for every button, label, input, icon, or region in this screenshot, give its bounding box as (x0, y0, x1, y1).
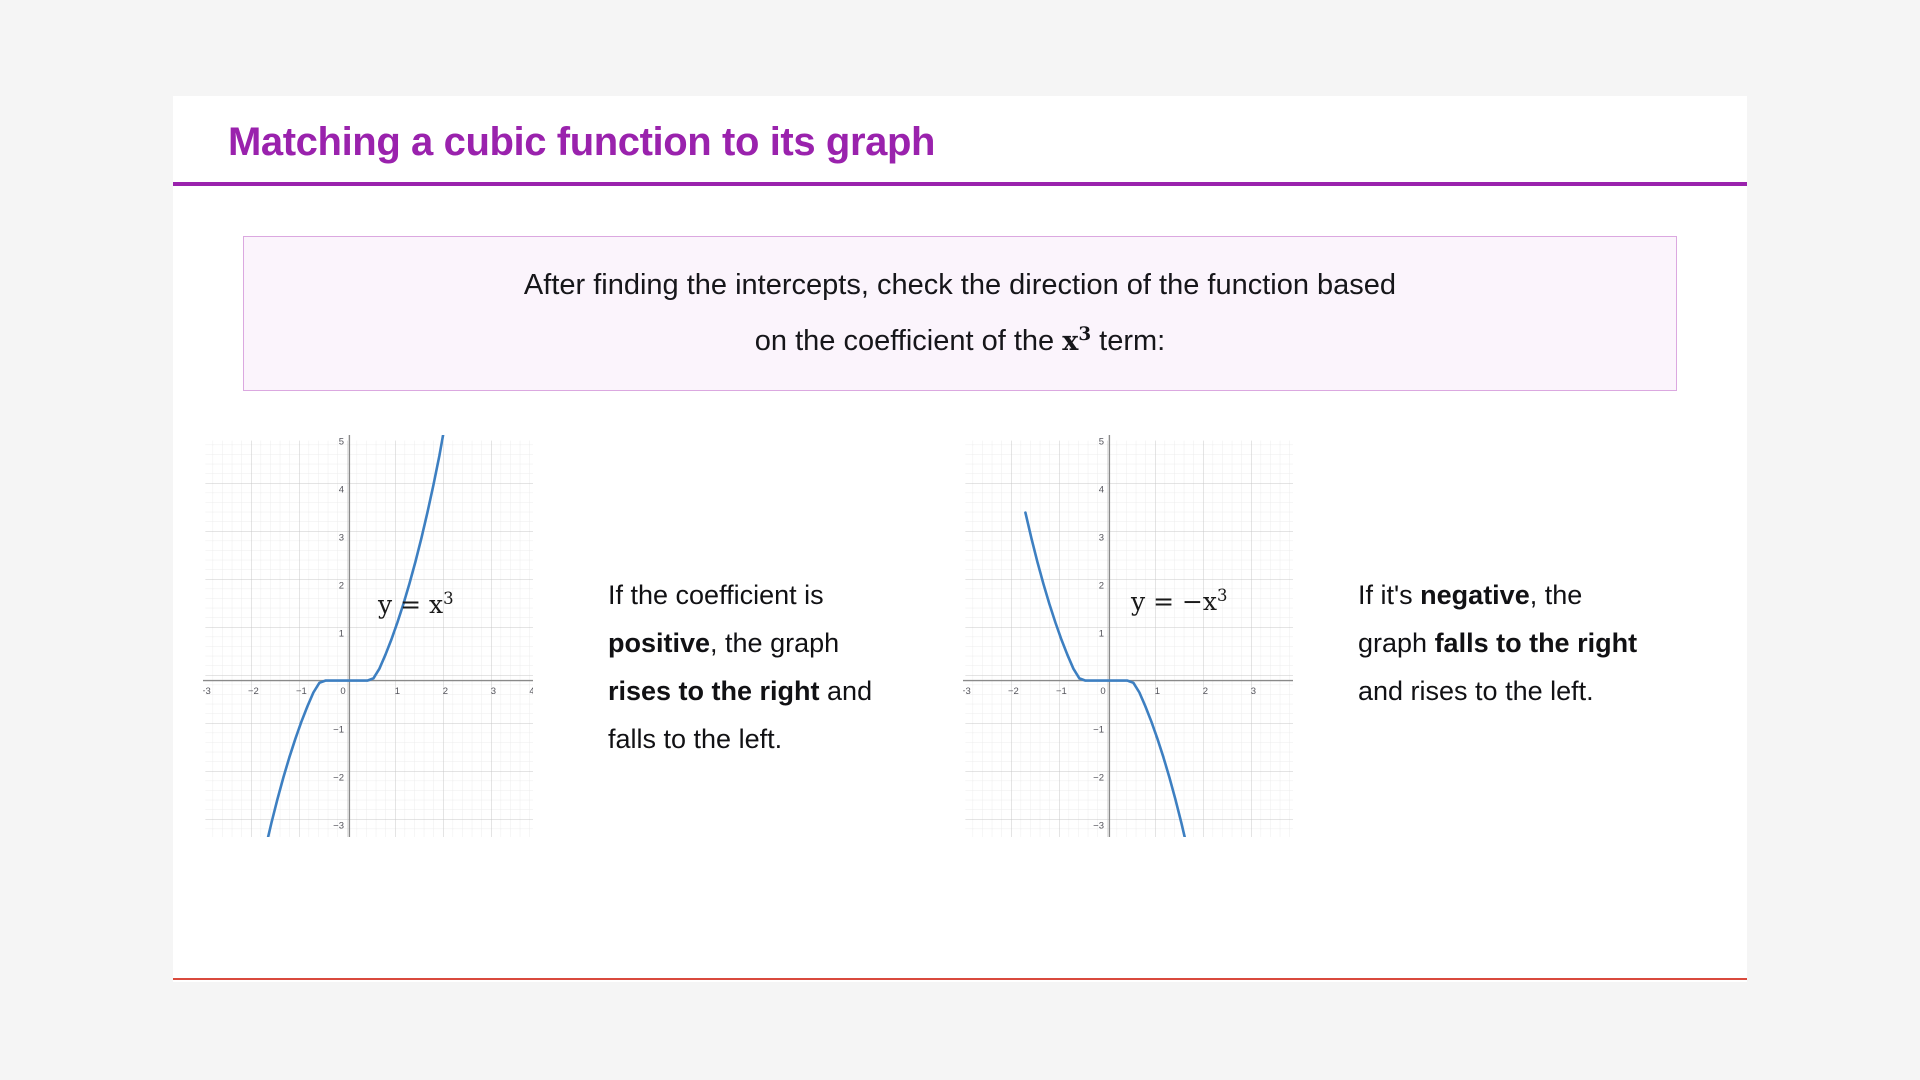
example-positive: −3 −2 −1 0 1 2 3 4 5 4 3 2 1 (203, 421, 943, 921)
math-base: x (1062, 326, 1078, 357)
svg-text:−3: −3 (1093, 821, 1104, 832)
svg-text:−3: −3 (333, 821, 344, 832)
explanation-run-0: If it's (1358, 580, 1420, 610)
svg-text:1: 1 (339, 629, 344, 640)
svg-text:3: 3 (1251, 686, 1256, 697)
cubic-positive-svg: −3 −2 −1 0 1 2 3 4 5 4 3 2 1 (203, 435, 533, 837)
cubic-negative-svg: −3 −2 −1 0 1 2 3 5 4 3 2 1 −1 (963, 435, 1293, 837)
svg-text:−1: −1 (333, 725, 344, 736)
svg-text:5: 5 (1099, 437, 1104, 448)
examples-row: −3 −2 −1 0 1 2 3 4 5 4 3 2 1 (173, 421, 1747, 941)
explanation-run-3: rises to the right (608, 676, 820, 706)
page-title: Matching a cubic function to its graph (228, 120, 935, 165)
svg-text:2: 2 (1203, 686, 1208, 697)
svg-text:−2: −2 (1008, 686, 1019, 697)
svg-text:4: 4 (339, 485, 344, 496)
example-negative: −3 −2 −1 0 1 2 3 5 4 3 2 1 −1 (963, 421, 1713, 921)
explanation-run-1: negative (1420, 580, 1530, 610)
svg-text:−1: −1 (1056, 686, 1067, 697)
svg-text:−2: −2 (333, 773, 344, 784)
svg-text:4: 4 (529, 686, 533, 697)
svg-text:−1: −1 (296, 686, 307, 697)
lesson-card: Matching a cubic function to its graph A… (173, 96, 1747, 982)
explanation-run-2: , the graph (710, 628, 839, 658)
svg-text:4: 4 (1099, 485, 1104, 496)
title-divider (173, 182, 1747, 186)
svg-text:2: 2 (443, 686, 448, 697)
graph-positive: −3 −2 −1 0 1 2 3 4 5 4 3 2 1 (203, 435, 533, 837)
svg-text:−2: −2 (1093, 773, 1104, 784)
svg-text:3: 3 (491, 686, 496, 697)
svg-text:2: 2 (339, 581, 344, 592)
math-exponent: 3 (1078, 324, 1091, 345)
svg-text:1: 1 (395, 686, 400, 697)
graph-negative: −3 −2 −1 0 1 2 3 5 4 3 2 1 −1 (963, 435, 1293, 837)
svg-text:3: 3 (1099, 533, 1104, 544)
svg-text:0: 0 (1100, 686, 1105, 697)
callout-line-2-before: on the coefficient of the (755, 325, 1054, 357)
x-cubed-term: x3 (1062, 326, 1091, 357)
svg-text:0: 0 (340, 686, 345, 697)
explanation-run-1: positive (608, 628, 710, 658)
explanation-negative: If it's negative, the graph falls to the… (1358, 571, 1658, 715)
svg-text:−2: −2 (248, 686, 259, 697)
svg-text:3: 3 (339, 533, 344, 544)
svg-text:1: 1 (1155, 686, 1160, 697)
callout-line-2: on the coefficient of the x3 term: (755, 314, 1165, 369)
svg-text:2: 2 (1099, 581, 1104, 592)
svg-text:5: 5 (339, 437, 344, 448)
callout-line-1: After finding the intercepts, check the … (524, 258, 1396, 313)
explanation-positive: If the coefficient is positive, the grap… (608, 571, 908, 763)
svg-text:−1: −1 (1093, 725, 1104, 736)
equation-label-negative: y = −x3 (1130, 586, 1228, 616)
svg-text:−3: −3 (963, 686, 971, 697)
svg-text:−3: −3 (203, 686, 211, 697)
callout-line-2-after: term: (1099, 325, 1165, 357)
svg-text:1: 1 (1099, 629, 1104, 640)
card-bottom-rule (173, 978, 1747, 980)
callout-box: After finding the intercepts, check the … (243, 236, 1677, 391)
explanation-run-0: If the coefficient is (608, 580, 824, 610)
equation-label-positive: y = x3 (377, 589, 454, 619)
explanation-run-3: falls to the right (1435, 628, 1638, 658)
explanation-run-4: and rises to the left. (1358, 676, 1594, 706)
